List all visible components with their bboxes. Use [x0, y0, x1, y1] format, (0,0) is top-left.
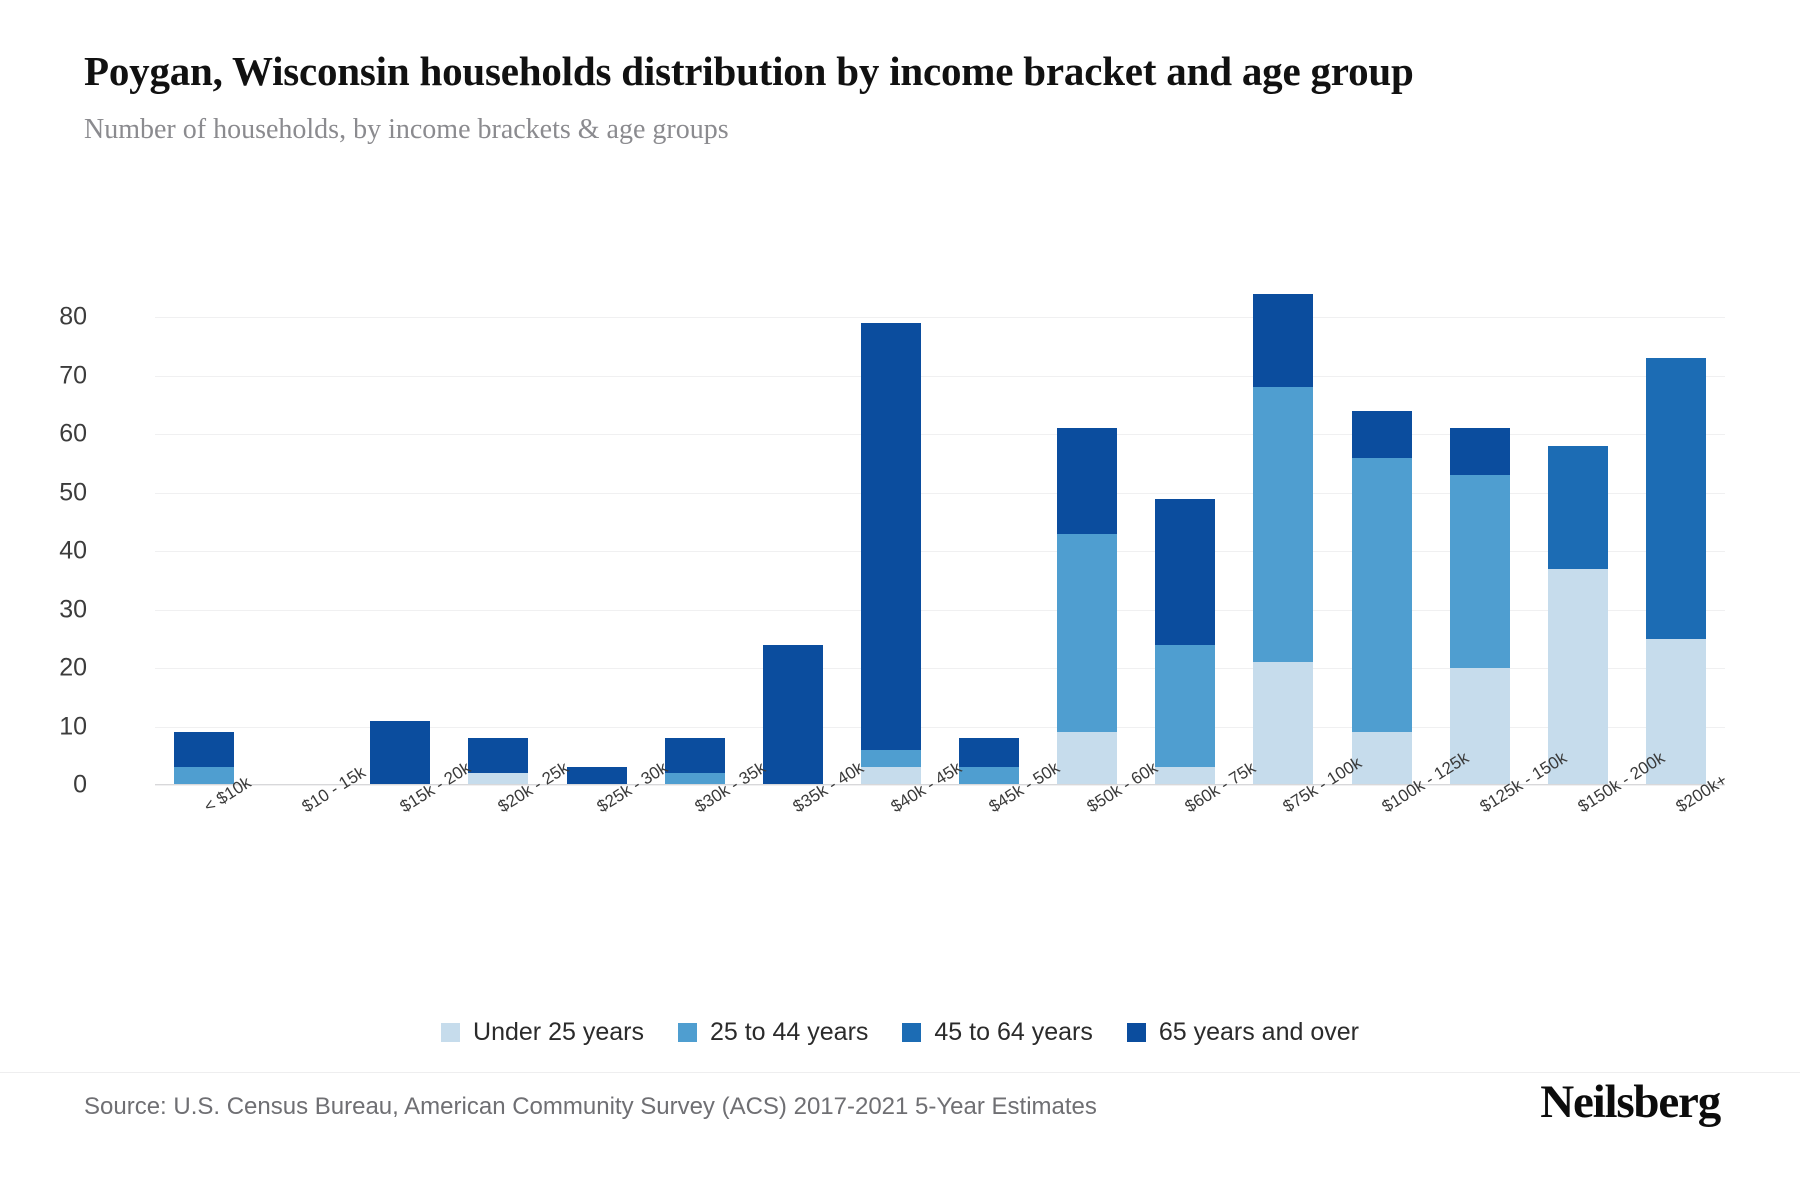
y-axis-tick-label: 10	[17, 712, 87, 741]
bar-segment[interactable]	[763, 645, 823, 785]
bar-slot[interactable]	[646, 288, 744, 785]
bar-stack[interactable]	[567, 767, 627, 785]
bar-segment[interactable]	[370, 721, 430, 785]
x-axis-labels: < $10k$10 - 15k$15k - 20k$20k - 25k$25k …	[155, 788, 1725, 918]
bar-segment[interactable]	[861, 323, 921, 750]
bar-stack[interactable]	[1253, 294, 1313, 785]
bar-segment[interactable]	[1155, 499, 1215, 645]
legend-label: 25 to 44 years	[710, 1018, 868, 1047]
bar-stack[interactable]	[1057, 428, 1117, 785]
legend-swatch-icon	[678, 1023, 697, 1042]
x-axis-label-slot: $100k - 125k	[1333, 788, 1431, 918]
bar-slot[interactable]	[1038, 288, 1136, 785]
source-note: Source: U.S. Census Bureau, American Com…	[84, 1093, 1097, 1121]
bar-segment[interactable]	[1155, 645, 1215, 768]
legend-swatch-icon	[441, 1023, 460, 1042]
y-axis-tick-label: 80	[17, 303, 87, 332]
y-axis-tick-label: 40	[17, 537, 87, 566]
bar-segment[interactable]	[1057, 534, 1117, 733]
bar-segment[interactable]	[1352, 411, 1412, 458]
x-axis-label-slot: $10 - 15k	[253, 788, 351, 918]
legend-label: 65 years and over	[1159, 1018, 1359, 1047]
x-axis-label-slot: $15k - 20k	[351, 788, 449, 918]
bar-segment[interactable]	[1352, 458, 1412, 733]
bar-stack[interactable]	[1548, 446, 1608, 785]
bar-segment[interactable]	[959, 738, 1019, 767]
x-axis-label-slot: $75k - 100k	[1234, 788, 1332, 918]
x-axis-label-slot: $125k - 150k	[1431, 788, 1529, 918]
bar-segment[interactable]	[861, 750, 921, 768]
x-axis-label-slot: $45k - 50k	[940, 788, 1038, 918]
bar-slot[interactable]	[449, 288, 547, 785]
legend-label: 45 to 64 years	[934, 1018, 1092, 1047]
bar-segment[interactable]	[1352, 732, 1412, 785]
legend-swatch-icon	[902, 1023, 921, 1042]
bar-slot[interactable]	[253, 288, 351, 785]
bar-stack[interactable]	[861, 323, 921, 785]
x-axis-label-slot: $25k - 30k	[548, 788, 646, 918]
x-axis-label-slot: < $10k	[155, 788, 253, 918]
bar-segment[interactable]	[468, 738, 528, 773]
bar-segment[interactable]	[1057, 428, 1117, 533]
bar-stack[interactable]	[1646, 358, 1706, 785]
bar-slot[interactable]	[744, 288, 842, 785]
bar-segment[interactable]	[567, 767, 627, 785]
bar-segment[interactable]	[1450, 475, 1510, 668]
x-axis-label-slot: $50k - 60k	[1038, 788, 1136, 918]
bar-segment[interactable]	[665, 738, 725, 773]
footer-divider	[0, 1072, 1800, 1073]
x-axis-label-slot: $150k - 200k	[1529, 788, 1627, 918]
bar-segment[interactable]	[861, 767, 921, 785]
y-axis-tick-label: 70	[17, 361, 87, 390]
plot-area: 01020304050607080	[155, 288, 1725, 785]
legend-item[interactable]: 45 to 64 years	[902, 1018, 1092, 1047]
bar-segment[interactable]	[1646, 358, 1706, 639]
bar-slot[interactable]	[1333, 288, 1431, 785]
bar-slot[interactable]	[1234, 288, 1332, 785]
bar-segment[interactable]	[1253, 662, 1313, 785]
bar-segment[interactable]	[1057, 732, 1117, 785]
legend-label: Under 25 years	[473, 1018, 644, 1047]
legend-item[interactable]: Under 25 years	[441, 1018, 644, 1047]
bar-stack[interactable]	[1352, 411, 1412, 785]
x-axis-label-slot: $30k - 35k	[646, 788, 744, 918]
bar-stack[interactable]	[468, 738, 528, 785]
bar-segment[interactable]	[174, 732, 234, 767]
chart-header: Poygan, Wisconsin households distributio…	[84, 48, 1704, 146]
bar-stack[interactable]	[763, 645, 823, 785]
bar-slot[interactable]	[351, 288, 449, 785]
bar-segment[interactable]	[1548, 446, 1608, 569]
x-axis-label-slot: $40k - 45k	[842, 788, 940, 918]
bar-segment[interactable]	[1450, 428, 1510, 475]
bar-stack[interactable]	[959, 738, 1019, 785]
y-axis-tick-label: 20	[17, 654, 87, 683]
chart-subtitle: Number of households, by income brackets…	[84, 114, 1704, 146]
bar-stack[interactable]	[665, 738, 725, 785]
x-axis-label-slot: $35k - 40k	[744, 788, 842, 918]
bar-stack[interactable]	[1450, 428, 1510, 785]
y-axis-tick-label: 60	[17, 420, 87, 449]
bar-slot[interactable]	[842, 288, 940, 785]
bar-slot[interactable]	[1627, 288, 1725, 785]
bar-segment[interactable]	[1253, 294, 1313, 388]
x-axis-label-slot: $60k - 75k	[1136, 788, 1234, 918]
bar-series-layer	[155, 288, 1725, 785]
bar-slot[interactable]	[1529, 288, 1627, 785]
bar-segment[interactable]	[1253, 387, 1313, 662]
bar-slot[interactable]	[1136, 288, 1234, 785]
y-axis-tick-label: 30	[17, 595, 87, 624]
neilsberg-logo: Neilsberg	[1540, 1075, 1720, 1129]
chart-legend: Under 25 years25 to 44 years45 to 64 yea…	[0, 1018, 1800, 1047]
bar-slot[interactable]	[548, 288, 646, 785]
bar-segment[interactable]	[174, 767, 234, 785]
page-title: Poygan, Wisconsin households distributio…	[84, 48, 1644, 96]
x-axis-label-slot: $200k+	[1627, 788, 1725, 918]
bar-stack[interactable]	[370, 721, 430, 785]
y-axis-tick-label: 0	[17, 771, 87, 800]
legend-item[interactable]: 65 years and over	[1127, 1018, 1359, 1047]
y-axis-tick-label: 50	[17, 478, 87, 507]
bar-slot[interactable]	[155, 288, 253, 785]
bar-segment[interactable]	[959, 767, 1019, 785]
bar-stack[interactable]	[174, 732, 234, 785]
bar-slot[interactable]	[1431, 288, 1529, 785]
bar-stack[interactable]	[1155, 499, 1215, 785]
legend-item[interactable]: 25 to 44 years	[678, 1018, 868, 1047]
bar-segment[interactable]	[1155, 767, 1215, 785]
x-axis-label-slot: $20k - 25k	[449, 788, 547, 918]
legend-swatch-icon	[1127, 1023, 1146, 1042]
bar-slot[interactable]	[940, 288, 1038, 785]
